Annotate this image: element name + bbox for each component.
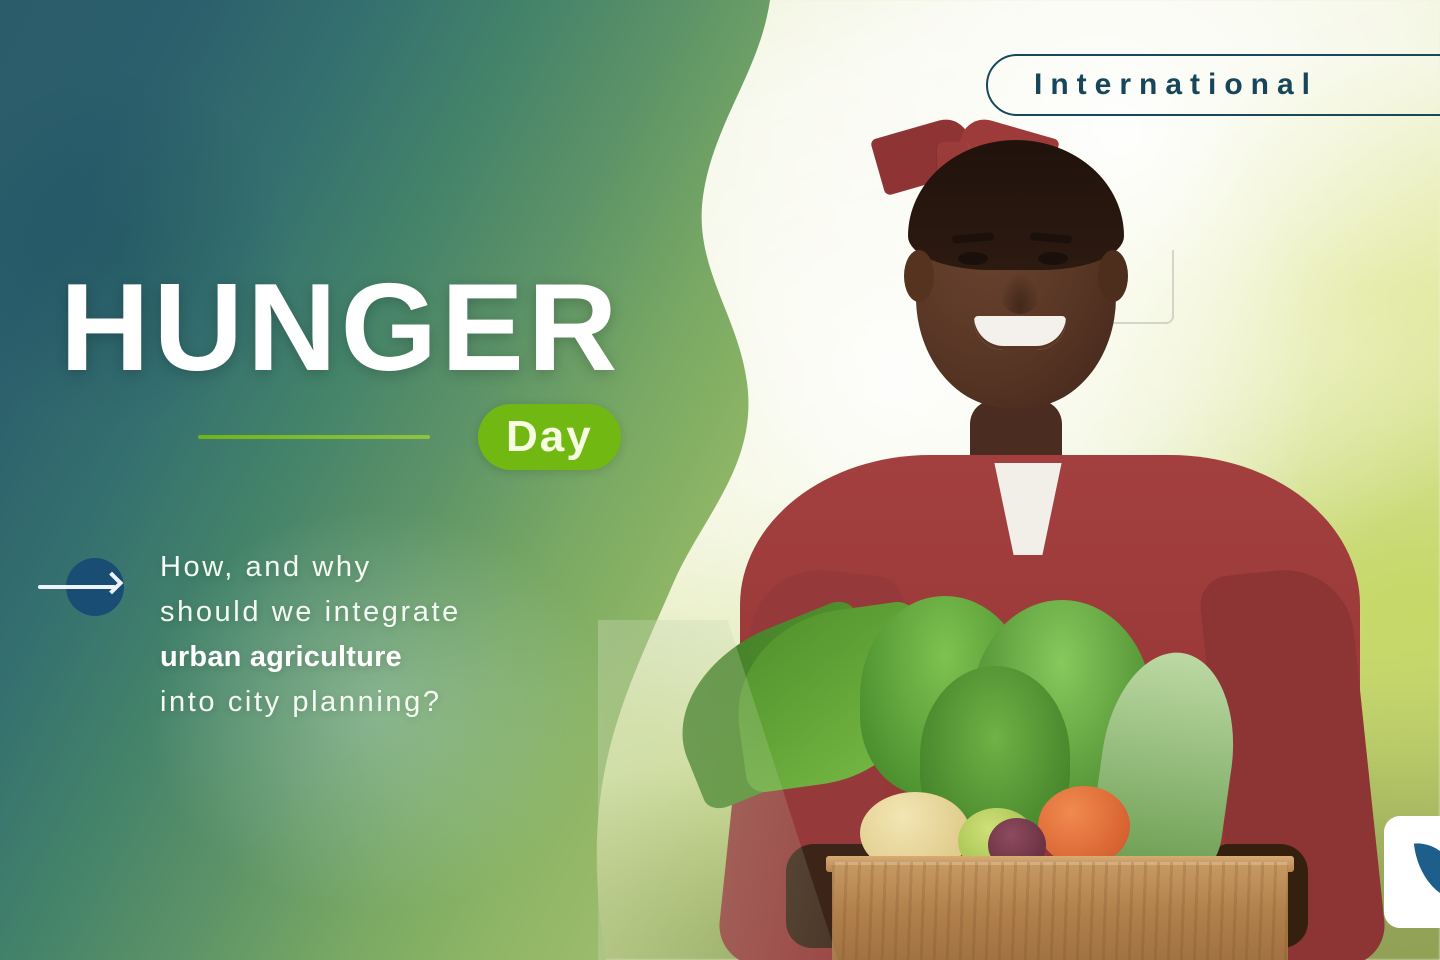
question-line-1: How, and why: [160, 545, 680, 590]
tomato: [1038, 786, 1130, 866]
nose: [1000, 272, 1040, 314]
ear-left: [904, 250, 934, 302]
question-block: How, and why should we integrate urban a…: [160, 545, 680, 725]
wooden-crate: [832, 862, 1288, 960]
question-line-4: into city planning?: [160, 680, 680, 725]
banner-canvas: HUNGER Day How, and why should we integr…: [0, 0, 1440, 960]
question-line-3-highlight: urban agriculture: [160, 635, 680, 680]
smile: [974, 316, 1066, 350]
question-line-2: should we integrate: [160, 590, 680, 635]
international-badge: International: [986, 54, 1440, 116]
ear-right: [1098, 250, 1128, 302]
day-pill: Day: [478, 404, 621, 470]
eye-right: [1038, 252, 1068, 265]
arrow-right-icon: [38, 558, 148, 618]
title-underline-rule: [198, 435, 430, 439]
logo-container[interactable]: [1384, 816, 1440, 928]
day-pill-label: Day: [506, 415, 593, 459]
page-title: HUNGER: [60, 266, 621, 390]
eye-left: [958, 252, 988, 265]
leaf-logo-icon: [1414, 839, 1440, 905]
international-badge-label: International: [1034, 68, 1318, 102]
